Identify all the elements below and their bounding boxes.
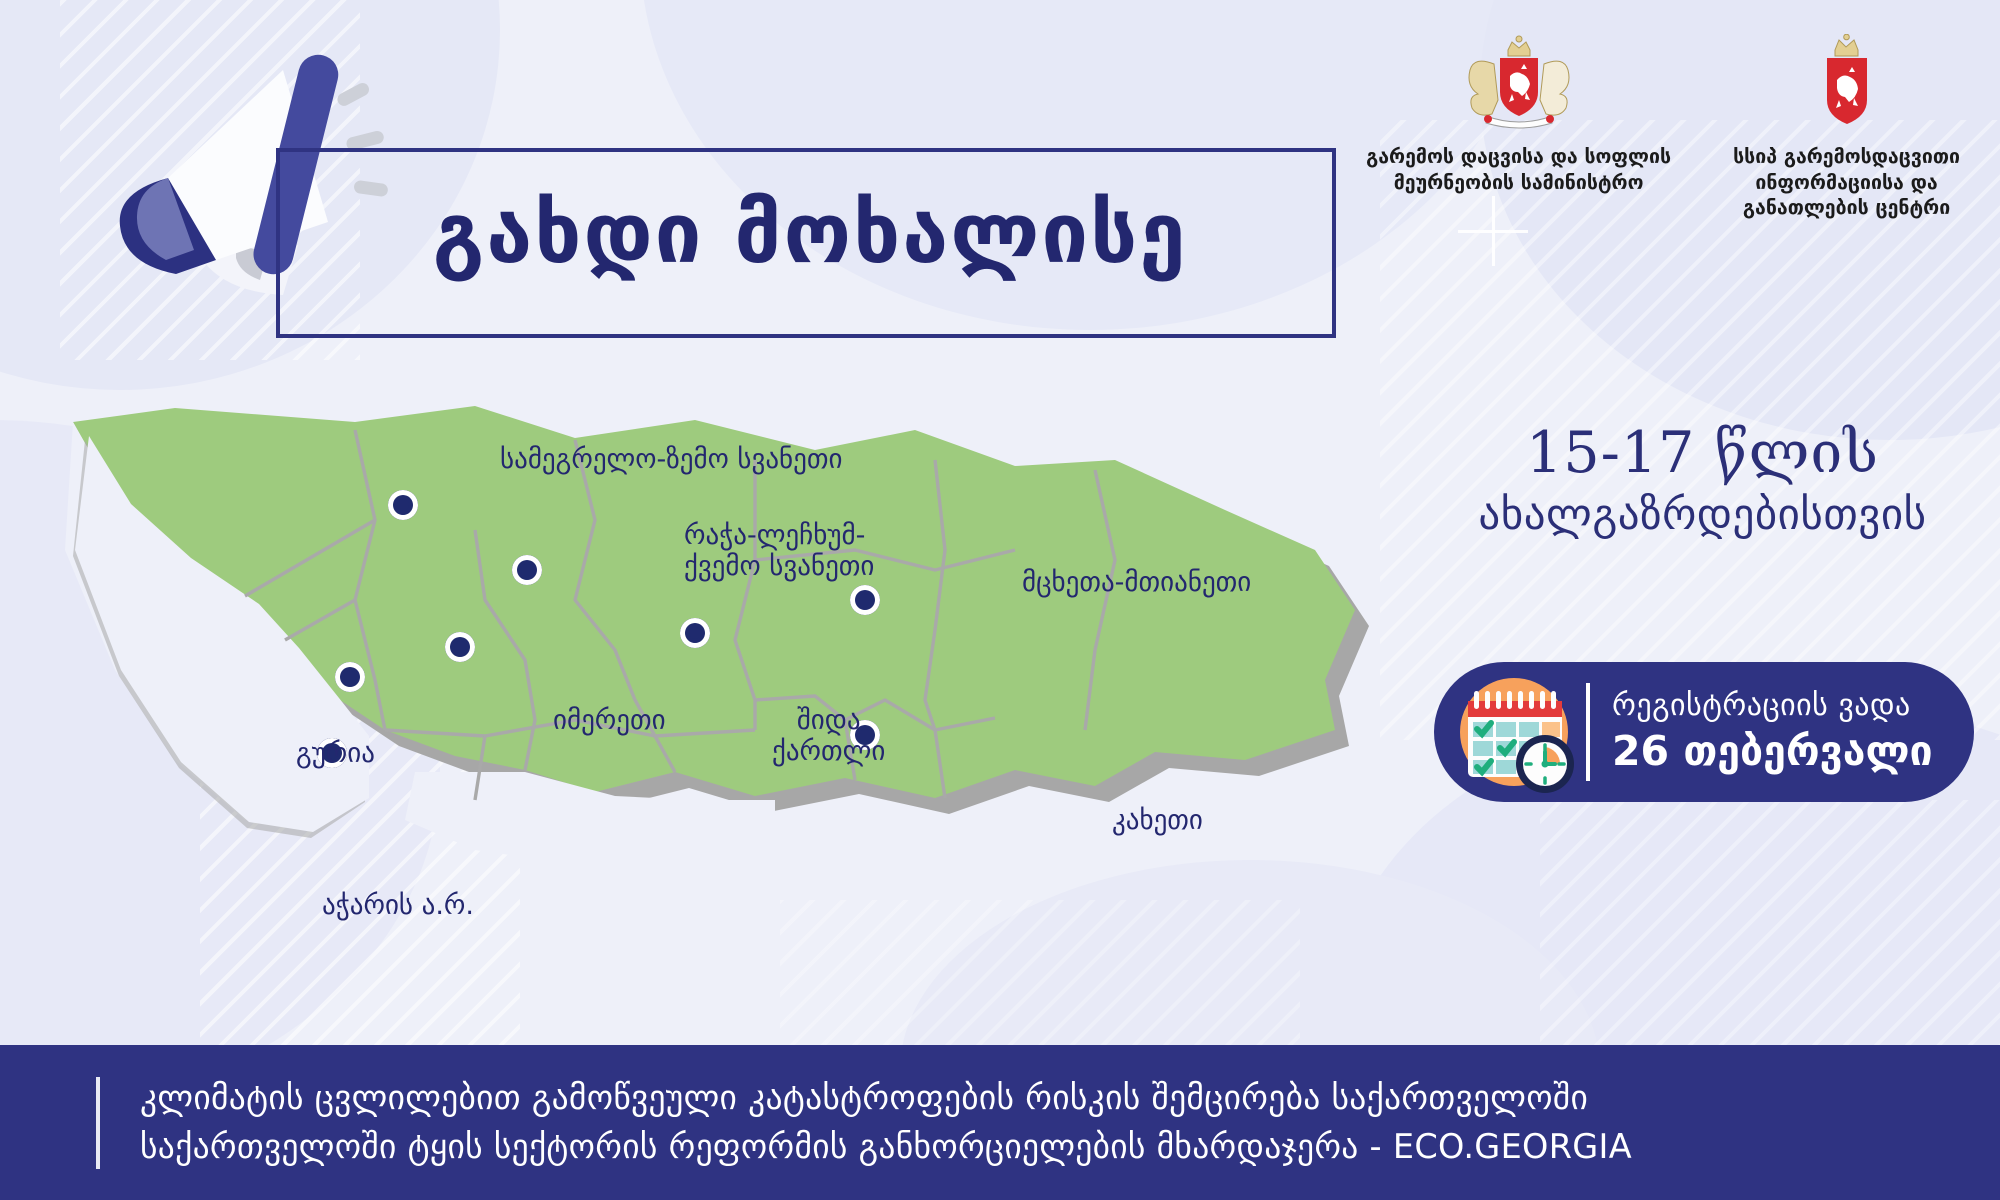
- deadline-label: რეგისტრაციის ვადა: [1612, 688, 1933, 724]
- logo-ministry: გარემოს დაცვისა და სოფლის მეურნეობის სამ…: [1366, 34, 1671, 195]
- age-range-audience: ახალგაზრდებისთვის: [1430, 490, 1975, 540]
- georgia-regions-map: [55, 400, 1395, 1020]
- map-label-imereti: იმერეთი: [553, 706, 666, 737]
- map-marker-mtskheta-mtianeti[interactable]: [850, 585, 880, 615]
- deadline-text-group: რეგისტრაციის ვადა 26 თებერვალი: [1612, 688, 1933, 776]
- map-label-guria: გურია: [296, 739, 375, 770]
- pill-divider: [1586, 683, 1590, 781]
- map-marker-imereti[interactable]: [445, 632, 475, 662]
- age-range-dates: 15-17 წლის: [1430, 420, 1975, 486]
- footer-project-text: კლიმატის ცვლილებით გამოწვეული კატასტროფე…: [140, 1074, 1632, 1172]
- page-title: გახდი მოხალისე: [300, 185, 1320, 282]
- logo-group: გარემოს დაცვისა და სოფლის მეურნეობის სამ…: [1366, 34, 1960, 221]
- map-label-shida-kartli: შიდა ქართლი: [772, 706, 885, 768]
- georgia-coat-of-arms-full-icon: [1366, 34, 1671, 134]
- calendar-clock-icon: [1452, 667, 1582, 797]
- logo-center: სსიპ გარემოსდაცვითი ინფორმაციისა და განა…: [1733, 34, 1960, 221]
- bg-stripes-bottom-right: [1540, 800, 2000, 1080]
- georgia-shield-emblem-icon: [1733, 34, 1960, 134]
- map-label-kakheti: კახეთი: [1112, 806, 1203, 837]
- map-marker-samegrelo-zemo-svaneti[interactable]: [388, 490, 418, 520]
- footer-accent-bar: [96, 1077, 100, 1169]
- map-marker-racha-lechkhumi[interactable]: [512, 555, 542, 585]
- deadline-date: 26 თებერვალი: [1612, 727, 1933, 776]
- logo-ministry-caption: გარემოს დაცვისა და სოფლის მეურნეობის სამ…: [1366, 144, 1671, 195]
- map-marker-shida-kartli[interactable]: [680, 618, 710, 648]
- header: გახდი მოხალისე: [0, 0, 2000, 360]
- map-label-racha-lechkhumi: რაჭა-ლეჩხუმ- ქვემო სვანეთი: [684, 521, 874, 583]
- footer-banner: კლიმატის ცვლილებით გამოწვეული კატასტროფე…: [0, 1045, 2000, 1200]
- logo-center-caption: სსიპ გარემოსდაცვითი ინფორმაციისა და განა…: [1733, 144, 1960, 221]
- map-label-mtskheta-mtianeti: მცხეთა-მთიანეთი: [1022, 568, 1251, 599]
- map-label-adjara: აჭარის ა.რ.: [322, 891, 474, 922]
- map-marker-guria[interactable]: [335, 662, 365, 692]
- map-label-samegrelo-zemo-svaneti: სამეგრელო-ზემო სვანეთი: [500, 445, 842, 476]
- age-range-block: 15-17 წლის ახალგაზრდებისთვის: [1430, 420, 1975, 540]
- registration-deadline-badge[interactable]: რეგისტრაციის ვადა 26 თებერვალი: [1434, 662, 1974, 802]
